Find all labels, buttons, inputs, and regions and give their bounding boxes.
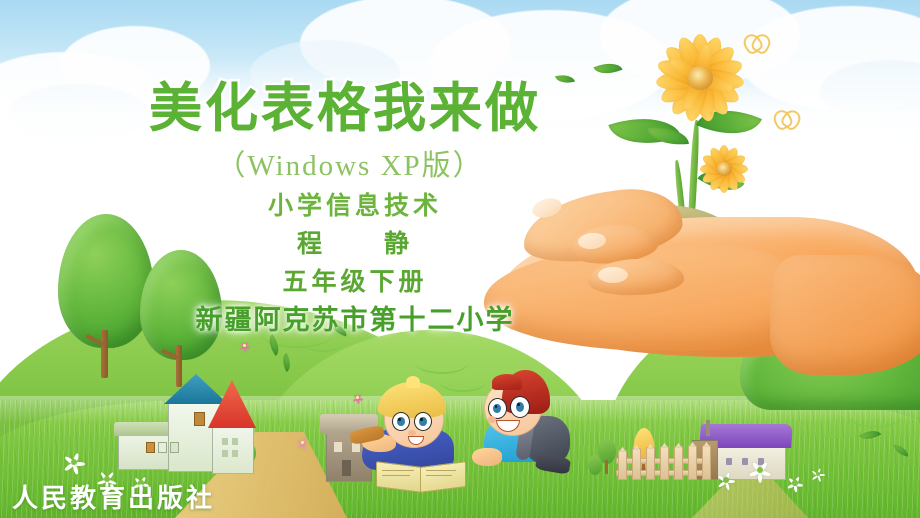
presentation-title-slide: 美化表格我来做 美化表格我来做 （Windows XP版） 小学信息技术 程 静… xyxy=(0,0,920,518)
grass-squiggle-3 xyxy=(415,350,469,374)
daisy-7 xyxy=(810,466,826,482)
kid-redhead-crawling xyxy=(466,372,582,484)
house-church-window xyxy=(194,412,205,426)
daisy-1 xyxy=(62,450,86,474)
open-book xyxy=(376,460,464,488)
daisy-6 xyxy=(786,474,804,492)
mini-tree-green-trunk xyxy=(605,460,608,474)
fence-post-6 xyxy=(688,445,697,480)
book-text-line-3 xyxy=(426,470,456,471)
mini-tree-green2-crown xyxy=(588,455,602,475)
hand-finger-middle-nail xyxy=(598,267,628,283)
fence-post-1 xyxy=(618,450,627,480)
publisher-label: 人民教育出版社 xyxy=(12,478,215,515)
book-page-left xyxy=(376,461,422,493)
fence-post-4 xyxy=(660,446,669,480)
fence-post-7 xyxy=(702,445,711,480)
house-spire-window-4 xyxy=(232,450,238,457)
kid-blonde-eye-left xyxy=(392,412,410,431)
fence-post-2 xyxy=(632,448,641,480)
tree-right-trunk xyxy=(176,345,182,387)
book-text-line-2 xyxy=(382,475,410,476)
house-brown-door xyxy=(342,460,351,476)
daisy-small-pink xyxy=(296,436,309,449)
daisy-5 xyxy=(748,458,772,482)
book-text-line-1 xyxy=(382,470,414,471)
fence-post-5 xyxy=(674,446,683,480)
house-brown-window-1 xyxy=(334,442,342,452)
kid-blonde-eye-right xyxy=(414,412,432,431)
daisy-4 xyxy=(716,470,736,490)
kid-redhead-hair-front xyxy=(492,374,522,390)
author-line: 程 静 xyxy=(145,224,565,260)
book-text-line-4 xyxy=(426,475,452,476)
kid-blonde-hair-tuft xyxy=(406,376,420,388)
subject-line: 小学信息技术 xyxy=(145,186,565,222)
kid-redhead-nose xyxy=(488,416,496,423)
fence-post-3 xyxy=(646,447,655,480)
flower-core-large xyxy=(687,66,713,90)
school-line: 新疆阿克苏市第十二小学 xyxy=(130,298,580,337)
tree-left-trunk xyxy=(101,330,108,378)
flower-core-small xyxy=(717,162,732,176)
grade-line: 五年级下册 xyxy=(145,262,565,298)
house-purple-window-1 xyxy=(726,458,732,465)
page-title-fill: 美化表格我来做 xyxy=(130,82,560,135)
hand-wrist xyxy=(770,255,920,375)
house-church-window-3 xyxy=(158,442,167,453)
house-spire-window-2 xyxy=(232,438,238,445)
house-church-window-4 xyxy=(170,442,179,453)
house-spire-body xyxy=(212,424,254,474)
house-purple-chimney xyxy=(706,420,710,436)
kid-redhead-eye-right xyxy=(510,396,530,418)
kid-blonde-reading xyxy=(356,378,476,488)
house-spire-window-1 xyxy=(222,438,228,445)
house-church-window-2 xyxy=(146,442,155,453)
house-spire-window-3 xyxy=(222,450,228,457)
page-subtitle: （Windows XP版） xyxy=(150,142,550,184)
kid-redhead-hand xyxy=(472,448,502,466)
daisy-small-pink-4 xyxy=(239,340,250,351)
